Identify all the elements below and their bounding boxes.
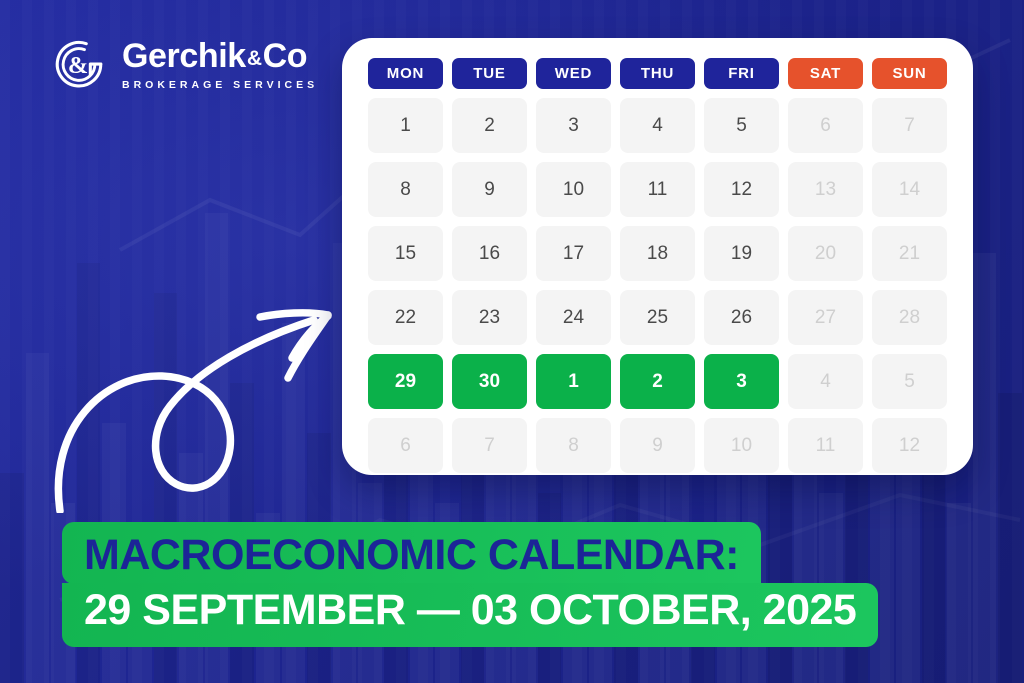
calendar-day-cell[interactable]: 5: [872, 354, 947, 409]
calendar-day-cell[interactable]: 20: [788, 226, 863, 281]
background-bar: [26, 353, 50, 683]
weekday-header-sat: SAT: [788, 58, 863, 89]
calendar-day-cell[interactable]: 5: [704, 98, 779, 153]
calendar-card: MONTUEWEDTHUFRISATSUN1234567891011121314…: [342, 38, 973, 475]
weekday-header-mon: MON: [368, 58, 443, 89]
background-bar: [973, 253, 997, 683]
hand-drawn-looping-arrow-icon: [52, 278, 352, 513]
title-banner-row-1: MACROECONOMIC CALENDAR:: [62, 522, 761, 584]
weekday-header-sun: SUN: [872, 58, 947, 89]
svg-text:&: &: [68, 52, 88, 79]
background-bar: [947, 503, 971, 683]
brand-ampersand: &: [246, 47, 263, 70]
calendar-day-cell[interactable]: 17: [536, 226, 611, 281]
brand-name-suffix: Co: [263, 37, 308, 75]
weekday-header-tue: TUE: [452, 58, 527, 89]
brand-tagline: BROKERAGE SERVICES: [122, 79, 318, 91]
calendar-day-cell[interactable]: 2: [620, 354, 695, 409]
background-bar: [998, 393, 1022, 683]
calendar-day-cell[interactable]: 1: [536, 354, 611, 409]
calendar-day-cell[interactable]: 10: [536, 162, 611, 217]
calendar-day-cell[interactable]: 29: [368, 354, 443, 409]
calendar-day-cell[interactable]: 22: [368, 290, 443, 345]
title-banner: MACROECONOMIC CALENDAR: 29 SEPTEMBER — 0…: [62, 522, 878, 647]
calendar-day-cell[interactable]: 2: [452, 98, 527, 153]
calendar-day-cell[interactable]: 24: [536, 290, 611, 345]
calendar-day-cell[interactable]: 26: [704, 290, 779, 345]
calendar-day-cell[interactable]: 28: [872, 290, 947, 345]
calendar-day-cell[interactable]: 9: [452, 162, 527, 217]
background-bar: [0, 473, 24, 683]
calendar-day-cell[interactable]: 23: [452, 290, 527, 345]
brand-name: Gerchik&Co: [122, 39, 318, 75]
weekday-header-thu: THU: [620, 58, 695, 89]
calendar-day-cell[interactable]: 1: [368, 98, 443, 153]
calendar-day-cell[interactable]: 9: [620, 418, 695, 473]
weekday-header-fri: FRI: [704, 58, 779, 89]
calendar-day-cell[interactable]: 4: [620, 98, 695, 153]
calendar-day-cell[interactable]: 13: [788, 162, 863, 217]
calendar-day-cell[interactable]: 12: [704, 162, 779, 217]
calendar-day-cell[interactable]: 8: [368, 162, 443, 217]
calendar-day-cell[interactable]: 10: [704, 418, 779, 473]
calendar-day-cell[interactable]: 16: [452, 226, 527, 281]
calendar-day-cell[interactable]: 7: [452, 418, 527, 473]
calendar-day-cell[interactable]: 8: [536, 418, 611, 473]
calendar-grid: MONTUEWEDTHUFRISATSUN1234567891011121314…: [368, 58, 947, 473]
calendar-day-cell[interactable]: 18: [620, 226, 695, 281]
calendar-day-cell[interactable]: 11: [620, 162, 695, 217]
calendar-day-cell[interactable]: 6: [788, 98, 863, 153]
page-title: MACROECONOMIC CALENDAR:: [84, 534, 739, 578]
brand-wordmark: Gerchik&Co BROKERAGE SERVICES: [122, 39, 318, 92]
calendar-day-cell[interactable]: 25: [620, 290, 695, 345]
calendar-day-cell[interactable]: 30: [452, 354, 527, 409]
promo-banner-canvas: & Gerchik&Co BROKERAGE SERVICES MONTUEWE…: [0, 0, 1024, 683]
calendar-day-cell[interactable]: 4: [788, 354, 863, 409]
calendar-day-cell[interactable]: 14: [872, 162, 947, 217]
title-banner-row-2: 29 SEPTEMBER — 03 OCTOBER, 2025: [62, 583, 878, 647]
calendar-day-cell[interactable]: 12: [872, 418, 947, 473]
background-bar: [922, 443, 946, 683]
calendar-day-cell[interactable]: 19: [704, 226, 779, 281]
calendar-day-cell[interactable]: 15: [368, 226, 443, 281]
weekday-header-wed: WED: [536, 58, 611, 89]
calendar-day-cell[interactable]: 21: [872, 226, 947, 281]
calendar-day-cell[interactable]: 7: [872, 98, 947, 153]
calendar-day-cell[interactable]: 11: [788, 418, 863, 473]
gerchik-circle-monogram-icon: &: [50, 36, 108, 94]
brand-name-main: Gerchik: [122, 37, 246, 75]
calendar-day-cell[interactable]: 3: [704, 354, 779, 409]
calendar-day-cell[interactable]: 3: [536, 98, 611, 153]
page-date-range: 29 SEPTEMBER — 03 OCTOBER, 2025: [84, 589, 856, 633]
calendar-day-cell[interactable]: 6: [368, 418, 443, 473]
brand-logo: & Gerchik&Co BROKERAGE SERVICES: [50, 36, 318, 94]
calendar-day-cell[interactable]: 27: [788, 290, 863, 345]
